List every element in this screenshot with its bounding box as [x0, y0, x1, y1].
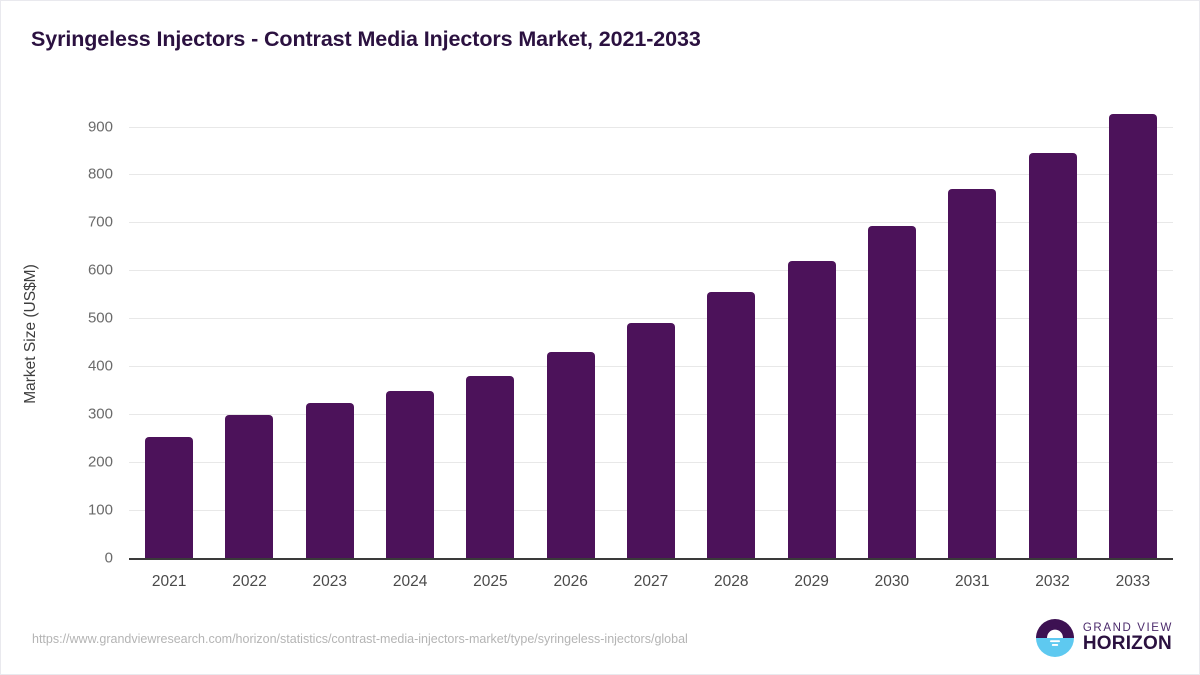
y-axis-tick-label: 900 — [43, 118, 113, 135]
x-axis-tick-label: 2028 — [691, 573, 771, 591]
bar-2026[interactable] — [547, 352, 595, 558]
bar-slot — [370, 91, 450, 558]
bar-2024[interactable] — [386, 391, 434, 558]
bar-slot — [450, 91, 530, 558]
source-url[interactable]: https://www.grandviewresearch.com/horizo… — [32, 632, 688, 646]
bar-slot — [531, 91, 611, 558]
chart-page: Syringeless Injectors - Contrast Media I… — [0, 0, 1200, 675]
x-axis-tick-label: 2022 — [209, 573, 289, 591]
x-axis-tick-label: 2025 — [450, 573, 530, 591]
bar-2033[interactable] — [1109, 114, 1157, 558]
x-axis-tick-label: 2026 — [531, 573, 611, 591]
bar-slot — [129, 91, 209, 558]
bar-slot — [932, 91, 1012, 558]
x-axis-tick-label: 2029 — [771, 573, 851, 591]
y-axis-tick-label: 0 — [43, 550, 113, 567]
x-axis-tick-label: 2030 — [852, 573, 932, 591]
bar-2031[interactable] — [948, 189, 996, 558]
bar-2021[interactable] — [145, 437, 193, 558]
bar-series — [129, 91, 1173, 558]
bar-slot — [209, 91, 289, 558]
bar-slot — [691, 91, 771, 558]
bar-slot — [1012, 91, 1092, 558]
plot-area: Market Size (US$M) 010020030040050060070… — [1, 1, 1199, 674]
x-axis-tick-label: 2027 — [611, 573, 691, 591]
y-axis-tick-label: 600 — [43, 262, 113, 279]
bar-2030[interactable] — [868, 226, 916, 558]
bar-2022[interactable] — [225, 415, 273, 558]
x-axis-line — [129, 558, 1173, 560]
x-axis-tick-label: 2032 — [1012, 573, 1092, 591]
bar-2023[interactable] — [306, 403, 354, 558]
bar-2029[interactable] — [788, 261, 836, 558]
bar-slot — [611, 91, 691, 558]
x-axis-tick-label: 2023 — [290, 573, 370, 591]
y-axis-tick-label: 800 — [43, 166, 113, 183]
y-axis-label: Market Size (US$M) — [22, 224, 40, 444]
brand-logo[interactable]: GRAND VIEW HORIZON — [1036, 619, 1173, 657]
y-axis-tick-label: 500 — [43, 310, 113, 327]
x-axis-tick-label: 2033 — [1093, 573, 1173, 591]
bar-2025[interactable] — [466, 376, 514, 558]
y-axis-tick-label: 700 — [43, 214, 113, 231]
y-axis-tick-label: 100 — [43, 502, 113, 519]
y-axis-tick-label: 400 — [43, 358, 113, 375]
x-axis-tick-label: 2024 — [370, 573, 450, 591]
bar-2027[interactable] — [627, 323, 675, 558]
bar-2028[interactable] — [707, 292, 755, 558]
logo-text: GRAND VIEW HORIZON — [1083, 622, 1173, 654]
bar-slot — [771, 91, 851, 558]
bar-slot — [290, 91, 370, 558]
x-axis-tick-label: 2031 — [932, 573, 1012, 591]
bar-slot — [852, 91, 932, 558]
bar-slot — [1093, 91, 1173, 558]
y-axis-tick-label: 200 — [43, 454, 113, 471]
y-axis-tick-label: 300 — [43, 406, 113, 423]
x-axis-tick-label: 2021 — [129, 573, 209, 591]
bar-2032[interactable] — [1029, 153, 1077, 558]
logo-line-2: HORIZON — [1083, 634, 1173, 654]
horizon-logo-icon — [1036, 619, 1074, 657]
